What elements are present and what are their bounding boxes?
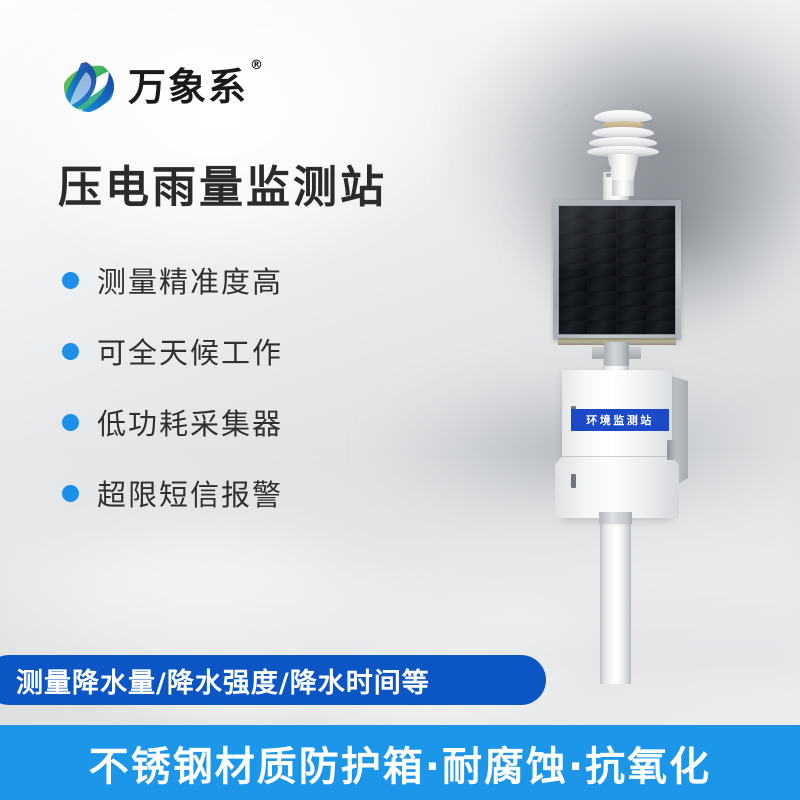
feature-label: 超限短信报警 (97, 472, 283, 514)
feature-item: 测量精准度高 (62, 262, 283, 298)
feature-label: 可全天候工作 (97, 330, 283, 372)
brand-name-text: 万象系 (128, 65, 248, 109)
capability-banner-text: 测量降水量/降水强度/降水时间等 (16, 661, 430, 700)
material-banner: 不锈钢材质防护箱·耐腐蚀·抗氧化 (0, 725, 800, 800)
bullet-dot-icon (62, 485, 79, 502)
product-marketing-banner: 环境监测站 (0, 0, 800, 800)
feature-label: 测量精准度高 (97, 259, 283, 301)
feature-item: 可全天候工作 (62, 333, 283, 369)
material-banner-text: 不锈钢材质防护箱·耐腐蚀·抗氧化 (89, 734, 711, 792)
feature-list: 测量精准度高 可全天候工作 低功耗采集器 超限短信报警 (62, 262, 283, 546)
page-title: 压电雨量监测站 (58, 166, 387, 210)
bullet-dot-icon (62, 272, 79, 289)
capability-banner: 测量降水量/降水强度/降水时间等 (0, 655, 546, 705)
trademark-symbol: ® (250, 59, 265, 72)
feature-item: 低功耗采集器 (62, 404, 283, 440)
bullet-dot-icon (62, 414, 79, 431)
feature-item: 超限短信报警 (62, 475, 283, 511)
brand-logo: 万象系 ® (60, 58, 248, 116)
globe-swoosh-logo-icon (60, 58, 118, 116)
brand-name: 万象系 ® (128, 68, 248, 106)
feature-label: 低功耗采集器 (97, 401, 283, 443)
bullet-dot-icon (62, 343, 79, 360)
